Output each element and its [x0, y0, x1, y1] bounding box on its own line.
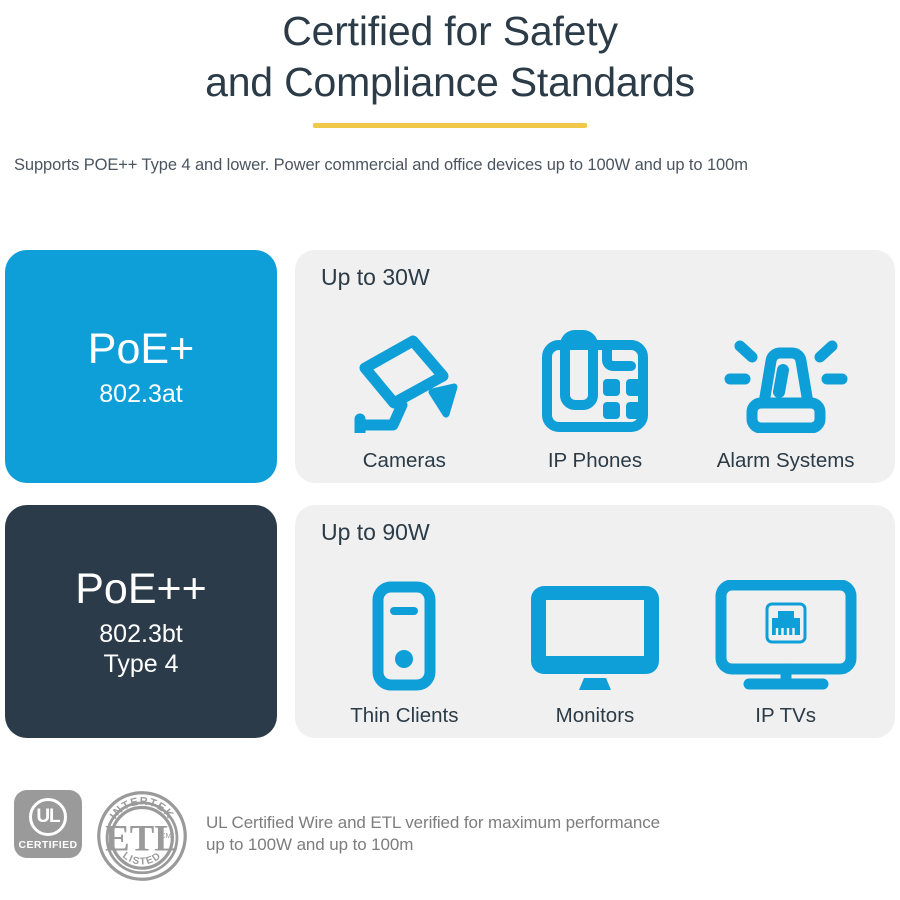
- certification-description-line1: UL Certified Wire and ETL verified for m…: [206, 812, 660, 834]
- security-camera-icon: [346, 321, 462, 441]
- poe-plusplus-wattage-label: Up to 90W: [321, 519, 430, 546]
- thin-client-tower-icon: [371, 576, 437, 696]
- poe-plusplus-badge-type: Type 4: [103, 649, 178, 679]
- ip-phone-icon: [541, 321, 649, 441]
- device-label-monitors: Monitors: [556, 704, 635, 728]
- etl-superscript-label: CM: [160, 831, 171, 840]
- ip-tv-icon: [715, 576, 857, 696]
- page-header: Certified for Safety and Compliance Stan…: [0, 0, 900, 175]
- poe-plusplus-badge-standard: 802.3bt: [99, 619, 182, 649]
- device-item-ip-phones: IP Phones: [506, 321, 683, 473]
- certification-description-line2: up to 100W and up to 100m: [206, 834, 660, 856]
- poe-plus-badge: PoE+ 802.3at: [5, 250, 277, 483]
- ul-certified-badge-icon: UL CERTIFIED: [14, 790, 82, 858]
- page-title-line2: and Compliance Standards: [0, 57, 900, 108]
- etl-listed-badge-icon: INTERTEK LISTED ETL CM: [96, 790, 188, 887]
- device-item-alarm-systems: Alarm Systems: [697, 321, 874, 473]
- device-item-cameras: Cameras: [316, 321, 493, 473]
- alarm-siren-icon: [723, 321, 849, 441]
- device-label-ip-phones: IP Phones: [548, 449, 642, 473]
- poe-comparison-grid: PoE+ 802.3at Up to 30W: [5, 250, 895, 738]
- device-item-monitors: Monitors: [506, 576, 683, 728]
- certification-footer: UL CERTIFIED INTERTEK LISTED ETL CM UL C…: [14, 790, 660, 887]
- ul-letters-label: UL: [36, 807, 59, 826]
- poe-plus-row: PoE+ 802.3at Up to 30W: [5, 250, 895, 483]
- poe-plus-icon-list: Cameras: [309, 298, 881, 473]
- page-title-line1: Certified for Safety: [0, 6, 900, 57]
- device-label-cameras: Cameras: [363, 449, 446, 473]
- device-label-thin-clients: Thin Clients: [350, 704, 458, 728]
- poe-plus-badge-title: PoE+: [88, 325, 194, 373]
- poe-plusplus-badge-title: PoE++: [75, 565, 207, 613]
- poe-plusplus-icon-list: Thin Clients Monitors: [309, 553, 881, 728]
- poe-plusplus-badge: PoE++ 802.3bt Type 4: [5, 505, 277, 738]
- title-underline-accent: [313, 123, 587, 128]
- ul-certified-label: CERTIFIED: [18, 839, 77, 851]
- device-item-ip-tvs: IP TVs: [697, 576, 874, 728]
- page-subtitle: Supports POE++ Type 4 and lower. Power c…: [0, 156, 900, 175]
- poe-plus-wattage-label: Up to 30W: [321, 264, 430, 291]
- certification-description: UL Certified Wire and ETL verified for m…: [206, 790, 660, 856]
- poe-plusplus-row: PoE++ 802.3bt Type 4 Up to 90W: [5, 505, 895, 738]
- device-item-thin-clients: Thin Clients: [316, 576, 493, 728]
- poe-plus-badge-standard: 802.3at: [99, 379, 182, 409]
- device-label-ip-tvs: IP TVs: [755, 704, 816, 728]
- poe-plusplus-device-panel: Up to 90W Thin Clients: [295, 505, 895, 738]
- poe-plus-device-panel: Up to 30W Cameras: [295, 250, 895, 483]
- monitor-icon: [528, 576, 662, 696]
- device-label-alarm-systems: Alarm Systems: [717, 449, 855, 473]
- ul-circle-mark: UL: [29, 798, 67, 836]
